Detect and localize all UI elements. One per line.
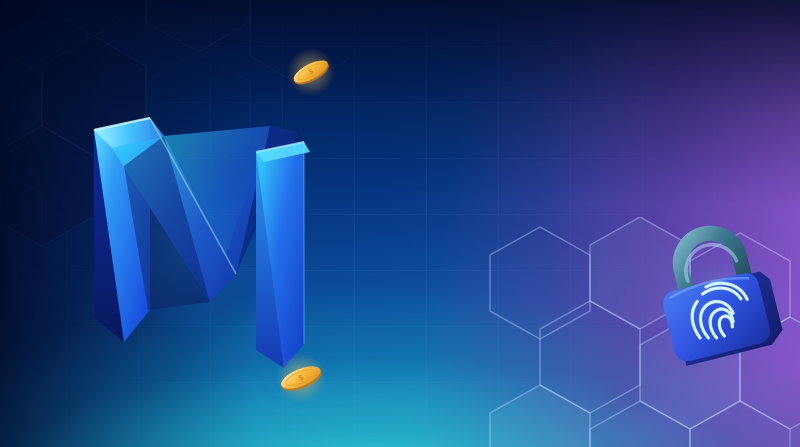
gold-coin-icon: $ — [286, 47, 336, 97]
m-logo-3d — [60, 96, 320, 376]
headline-block — [345, 132, 775, 154]
crypto-banner: $ $ — [0, 0, 800, 447]
gold-coin-icon: $ — [272, 352, 330, 404]
fingerprint-padlock-icon — [650, 222, 790, 367]
